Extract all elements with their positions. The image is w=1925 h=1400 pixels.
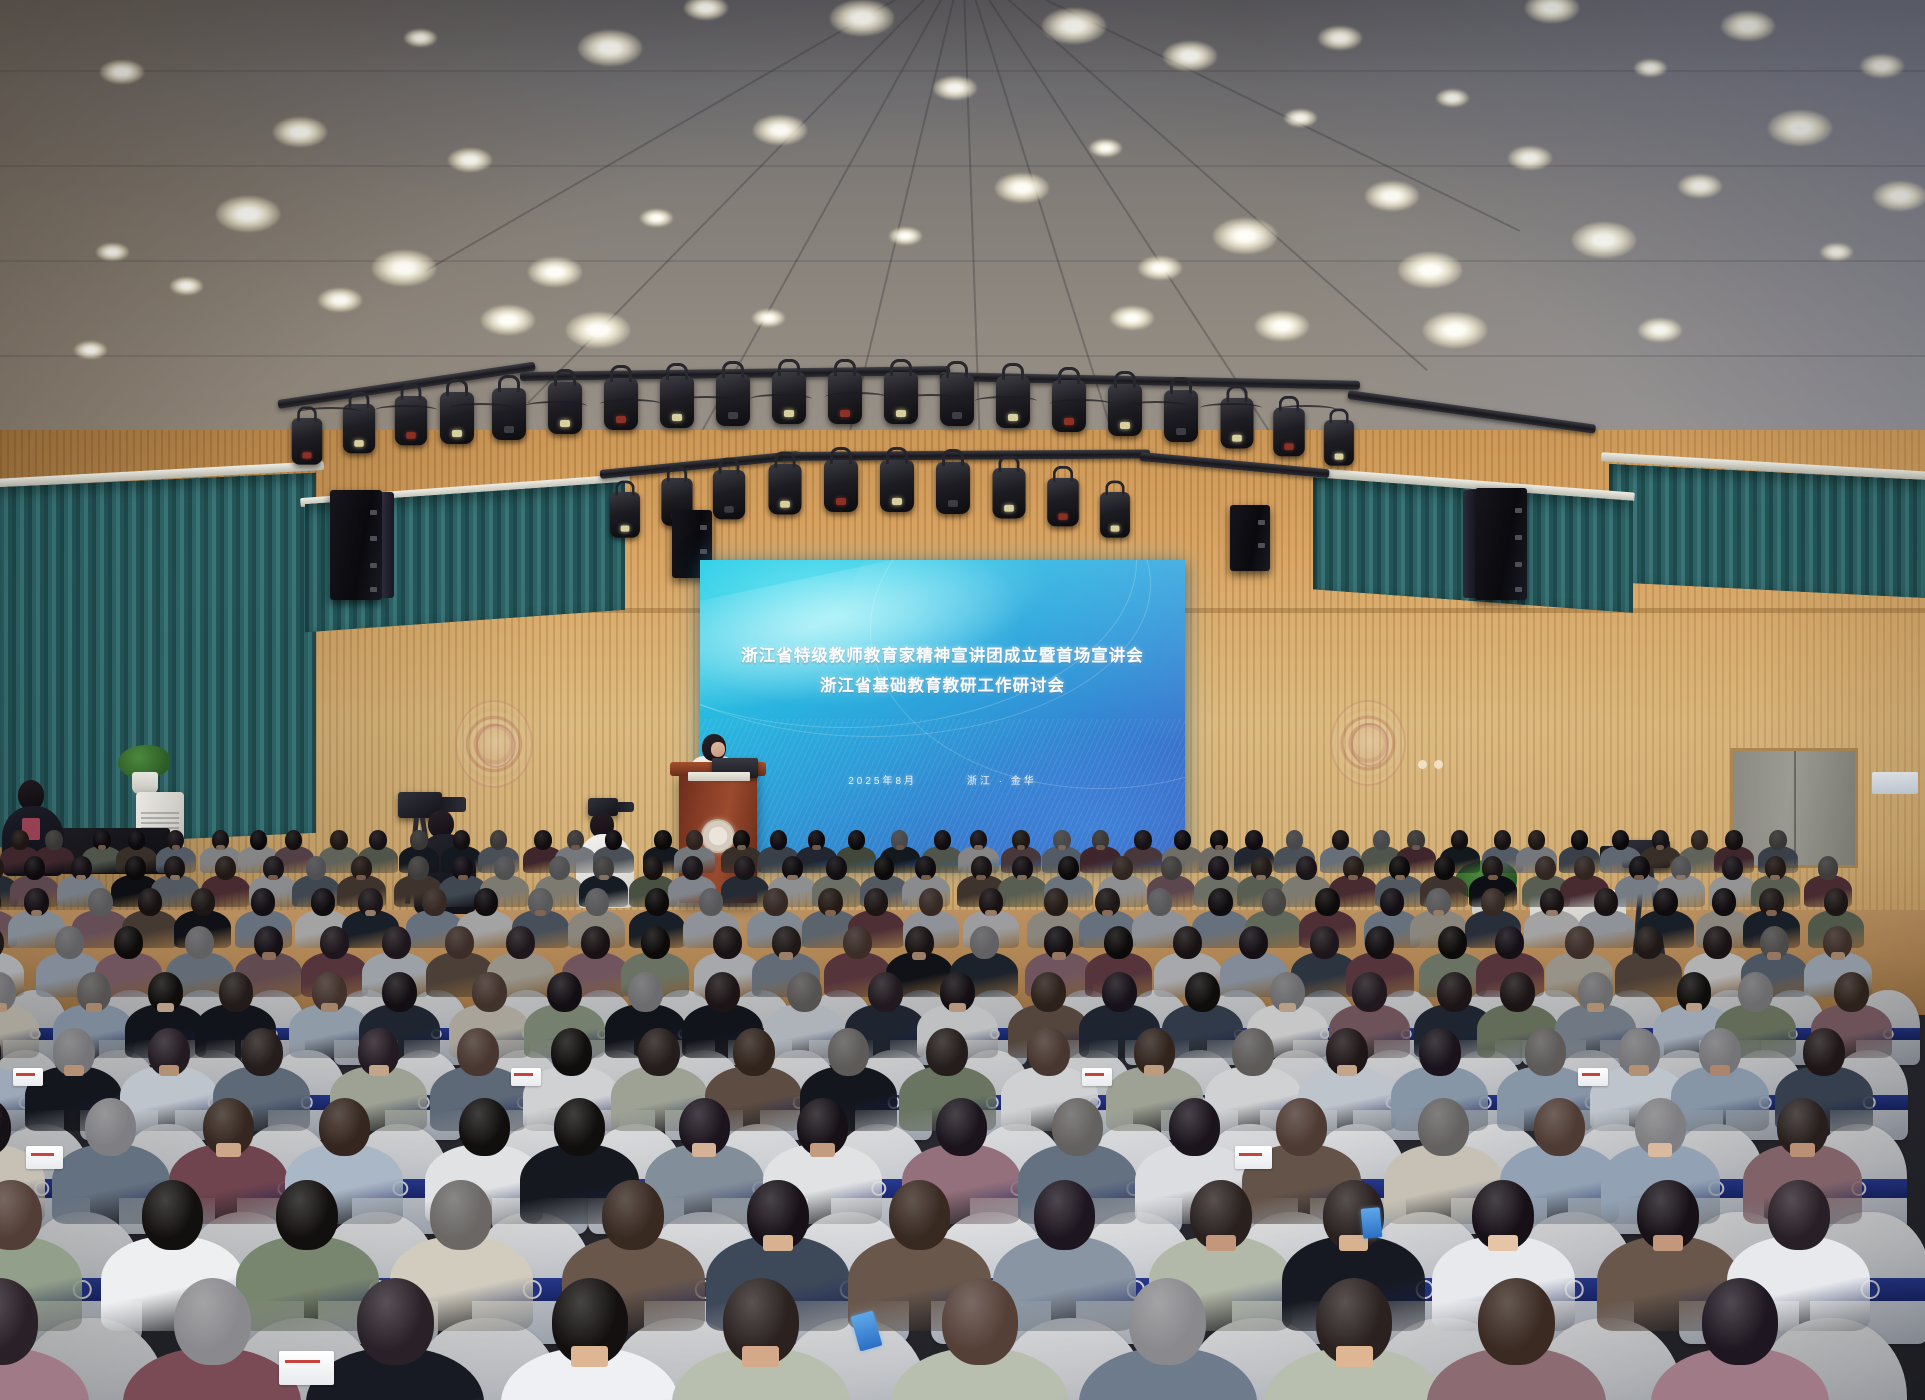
attendee-head — [1535, 856, 1556, 880]
attendee-head — [1296, 856, 1317, 880]
speaker-driver — [370, 587, 377, 592]
attendee-head — [1102, 972, 1137, 1012]
attendee-head — [1824, 888, 1848, 916]
attendee-head — [654, 830, 671, 850]
attendee-neck — [974, 845, 982, 850]
presenter-face — [711, 742, 725, 757]
attendee-head — [490, 830, 507, 850]
attendee-head — [733, 1028, 775, 1076]
attendee-neck — [812, 845, 820, 850]
ceiling-downlight — [578, 30, 642, 66]
light-power-cable — [1050, 399, 1112, 409]
attendee-head — [1419, 1028, 1461, 1076]
attendee-head — [382, 972, 417, 1012]
attendee-neck — [157, 1003, 174, 1013]
attendee-head — [215, 856, 236, 880]
screen-location: 浙江 · 金华 — [967, 776, 1037, 787]
attendee-head — [1286, 830, 1303, 850]
ceiling-downlight — [1678, 174, 1721, 198]
moving-head-light — [936, 462, 970, 514]
attendee-head — [643, 856, 664, 880]
ceiling-downlight — [1768, 110, 1832, 146]
attendee-head — [1634, 926, 1663, 959]
moving-head-light — [1100, 492, 1130, 538]
attendee-neck — [535, 910, 547, 917]
attendee-head — [1525, 1028, 1567, 1076]
attendee-head — [11, 830, 28, 850]
mobile-phone — [1361, 1207, 1383, 1239]
attendee-head — [128, 830, 145, 850]
light-lens — [836, 498, 846, 505]
light-lens — [560, 420, 570, 427]
attendee-head — [382, 926, 411, 959]
ceiling-downlight — [1638, 318, 1681, 342]
attendee-head — [1169, 1098, 1220, 1156]
attendee-neck — [1770, 875, 1780, 881]
attendee-head — [1574, 856, 1595, 880]
ceiling-downlight — [1213, 218, 1277, 254]
attendee-head — [682, 856, 703, 880]
ceiling-downlight — [1138, 256, 1181, 280]
moving-head-light — [1324, 420, 1354, 466]
attendee-neck — [692, 1143, 716, 1157]
attendee-neck — [1546, 910, 1558, 917]
ceiling-downlight — [1318, 26, 1361, 50]
attendee-head — [88, 888, 112, 916]
attendee-head — [1365, 926, 1394, 959]
attendee-neck — [321, 1003, 338, 1013]
ceiling-downlight — [1436, 89, 1469, 108]
attendee-neck — [216, 845, 224, 850]
light-power-cable — [1200, 403, 1262, 413]
attendee-head — [1451, 830, 1468, 850]
attendee-neck — [1395, 875, 1405, 881]
attendee-head — [826, 856, 847, 880]
speaker-driver — [1258, 543, 1265, 548]
institution-emblem-right — [1330, 700, 1406, 786]
attendee-neck — [787, 875, 797, 881]
attendee-head — [705, 972, 740, 1012]
attendee-head — [430, 1180, 491, 1250]
attendee-head — [1129, 1278, 1206, 1365]
attendee-head — [970, 926, 999, 959]
attendee-head — [1239, 926, 1268, 959]
attendee-head — [241, 1028, 283, 1076]
line-array-speaker-left — [330, 490, 382, 600]
attendee-head — [874, 856, 895, 880]
ceiling-downlight — [1255, 311, 1308, 341]
speaker-side-panel — [382, 492, 394, 598]
attendee-neck — [1488, 875, 1498, 881]
light-lens — [354, 440, 364, 447]
attendee-neck — [1790, 1143, 1814, 1157]
attendee-head — [549, 856, 570, 880]
ceiling-downlight — [318, 288, 361, 312]
attendee-head — [1495, 926, 1524, 959]
attendee-head — [1702, 1278, 1779, 1365]
attendee-head — [185, 926, 214, 959]
attendee-head — [919, 888, 943, 916]
light-lens — [1176, 428, 1186, 435]
attendee-head — [445, 926, 474, 959]
attendee-head — [311, 888, 335, 916]
light-lens — [840, 410, 850, 417]
light-lens — [616, 416, 626, 423]
wall-light-dot — [1418, 760, 1427, 769]
attendee-head — [934, 830, 951, 850]
attendee-head — [1494, 830, 1511, 850]
ceiling-seam — [0, 165, 1925, 167]
ceiling-downlight — [1163, 41, 1216, 71]
light-lens — [896, 410, 906, 417]
attendee-head — [547, 972, 582, 1012]
attendee-head — [641, 926, 670, 959]
institution-emblem-left — [455, 700, 533, 788]
attendee-neck — [170, 875, 180, 881]
screen-title-line2: 浙江省基础教育教研工作研讨会 — [700, 672, 1185, 696]
ceiling-downlight — [1721, 11, 1774, 41]
speaker-driver — [1515, 535, 1522, 540]
light-power-cable — [600, 399, 662, 409]
ceiling-downlight — [1634, 59, 1667, 78]
moving-head-light — [1164, 390, 1198, 442]
attendee-head — [306, 856, 327, 880]
moving-head-light — [440, 392, 474, 444]
attendee-head — [422, 888, 446, 916]
speaker-driver — [1515, 587, 1522, 592]
light-power-cable — [825, 392, 887, 402]
light-lens — [1120, 422, 1130, 429]
attendee-neck — [1206, 1235, 1236, 1252]
light-power-cable — [525, 401, 587, 411]
attendee-head — [1173, 926, 1202, 959]
attendee-neck — [1710, 1065, 1730, 1076]
ceiling-downlight — [216, 196, 280, 232]
attendee-head — [457, 1028, 499, 1076]
wall-light-dot — [1434, 760, 1443, 769]
door-sign — [1872, 772, 1918, 794]
attendee-head — [1104, 926, 1133, 959]
attendee-head — [581, 926, 610, 959]
attendee-head — [494, 856, 515, 880]
attendee-head — [1034, 1180, 1095, 1250]
attendee-head — [1044, 888, 1068, 916]
attendee-neck — [1412, 845, 1420, 850]
attendee-neck — [1629, 1065, 1649, 1076]
attendee-head — [1571, 830, 1588, 850]
attendee-head — [459, 1098, 510, 1156]
attendee-neck — [1766, 910, 1778, 917]
attendee-head — [319, 1098, 370, 1156]
attendee-head — [114, 926, 143, 959]
attendee-neck — [1144, 1065, 1164, 1076]
attendee-head — [250, 830, 267, 850]
ceiling-downlight — [1873, 181, 1925, 211]
moving-head-light — [713, 470, 745, 519]
attendee-neck — [1653, 1235, 1683, 1252]
attendee-head — [1818, 856, 1839, 880]
attendee-head — [763, 888, 787, 916]
attendee-head — [1310, 926, 1339, 959]
attendee-neck — [1017, 845, 1025, 850]
attendee-head — [219, 972, 254, 1012]
moving-head-light — [1273, 408, 1305, 456]
attendee-neck — [949, 1003, 966, 1013]
ceiling-downlight — [273, 117, 326, 147]
attendee-head — [138, 888, 162, 916]
attendee-neck — [1337, 1065, 1357, 1076]
attendee-head — [1725, 830, 1742, 850]
attendee-neck — [64, 1065, 84, 1076]
attendee-neck — [262, 952, 276, 960]
light-lens — [621, 525, 630, 531]
name-badge — [26, 1146, 63, 1169]
moving-head-light — [880, 460, 914, 512]
name-badge — [1235, 1146, 1272, 1169]
light-lens — [452, 430, 462, 437]
attendee-head — [926, 1028, 968, 1076]
attendee-head — [1653, 888, 1677, 916]
name-badge — [279, 1351, 334, 1385]
attendee-neck — [1676, 875, 1686, 881]
attendee-head — [1148, 888, 1172, 916]
attendee-head — [585, 888, 609, 916]
light-lens — [784, 410, 794, 417]
attendee-neck — [1433, 910, 1445, 917]
speaker-driver — [1515, 562, 1522, 567]
attendee-head — [942, 1278, 1019, 1365]
ceiling-downlight — [74, 341, 107, 360]
attendee-head — [276, 1180, 337, 1250]
attendee-head — [125, 856, 146, 880]
ceiling-downlight — [752, 309, 785, 328]
ceiling-downlight — [481, 305, 534, 335]
ceiling-downlight — [404, 29, 437, 48]
moving-head-light — [292, 418, 323, 465]
attendee-head — [551, 1028, 593, 1076]
attendee-neck — [571, 845, 579, 850]
light-lens — [728, 412, 738, 419]
attendee-head — [686, 830, 703, 850]
light-lens — [948, 500, 958, 507]
attendee-head — [174, 1278, 251, 1365]
attendee-head — [1208, 888, 1232, 916]
speaker-driver — [1258, 520, 1265, 525]
attendee-head — [408, 856, 429, 880]
attendee-neck — [779, 952, 793, 960]
attendee-head — [472, 972, 507, 1012]
attendee-head — [1352, 972, 1387, 1012]
moving-head-light — [824, 460, 858, 512]
attendee-neck — [1215, 845, 1223, 850]
attendee-neck — [1767, 952, 1781, 960]
attendee-neck — [172, 845, 180, 850]
attendee-head — [1418, 1098, 1469, 1156]
attendee-head — [534, 830, 551, 850]
ceiling-downlight — [372, 250, 436, 286]
attendee-head — [191, 888, 215, 916]
light-lens — [1284, 443, 1293, 450]
attendee-head — [1769, 830, 1786, 850]
video-camera-lens — [616, 802, 634, 812]
ceiling-downlight — [1860, 54, 1903, 78]
attendee-neck — [76, 875, 86, 881]
attendee-head — [1332, 830, 1349, 850]
name-badge — [1578, 1068, 1608, 1087]
attendee-neck — [825, 910, 837, 917]
attendee-neck — [896, 845, 904, 850]
attendee-neck — [365, 910, 377, 917]
attendee-head — [1058, 856, 1079, 880]
attendee-head — [1703, 926, 1732, 959]
led-presentation-screen[interactable]: 浙江省特级教师教育家精神宣讲团成立暨首场宣讲会 浙江省基础教育教研工作研讨会 2… — [700, 560, 1185, 865]
light-lens — [1008, 414, 1018, 421]
speaker-driver — [1515, 508, 1522, 513]
attendee-head — [848, 830, 865, 850]
attendee-head — [936, 1098, 987, 1156]
attendee-head — [1052, 1098, 1103, 1156]
attendee-head — [554, 1098, 605, 1156]
light-power-cable — [1125, 401, 1187, 411]
attendee-head — [330, 830, 347, 850]
attendee-head — [1481, 888, 1505, 916]
attendee-neck — [1336, 1346, 1373, 1367]
attendee-head — [1112, 856, 1133, 880]
attendee-head — [1161, 856, 1182, 880]
attendee-neck — [0, 1003, 7, 1013]
ceiling-downlight — [1110, 306, 1153, 330]
attendee-neck — [921, 875, 931, 881]
podium-papers — [688, 772, 750, 781]
attendee-head — [1565, 926, 1594, 959]
attendee-head — [868, 972, 903, 1012]
ceiling-downlight — [830, 0, 894, 36]
attendee-head — [1594, 888, 1618, 916]
moving-head-light — [395, 396, 427, 445]
moving-head-light — [492, 388, 526, 440]
ceiling-downlight — [995, 173, 1048, 203]
attendee-neck — [1279, 1003, 1296, 1013]
ceiling-downlight — [100, 60, 143, 84]
attendee-head — [1691, 830, 1708, 850]
attendee-neck — [268, 875, 278, 881]
screen-date: 2025年8月 — [848, 776, 917, 787]
attendee-neck — [1017, 875, 1027, 881]
attendee-head — [889, 1180, 950, 1250]
ceiling-downlight — [566, 312, 630, 348]
moving-head-light — [1047, 478, 1079, 526]
attendee-head — [1738, 972, 1773, 1012]
attendee-head — [24, 856, 45, 880]
attendee-neck — [86, 1003, 103, 1013]
attendee-head — [357, 1278, 434, 1365]
attendee-shoulders — [721, 875, 770, 907]
attendee-head — [142, 1180, 203, 1250]
ceiling-downlight — [640, 209, 673, 228]
attendee-head — [628, 972, 663, 1012]
attendee-head — [1768, 1180, 1829, 1250]
attendee-head — [1262, 888, 1286, 916]
attendee-shoulders — [1615, 952, 1683, 997]
attendee-head — [843, 926, 872, 959]
ceiling-downlight — [1398, 252, 1462, 288]
light-lens — [1232, 435, 1242, 442]
attendee-head — [1834, 972, 1869, 1012]
attendee-head — [1276, 1098, 1327, 1156]
attendee-head — [1528, 830, 1545, 850]
screen-meta-row: 2025年8月 浙江 · 金华 — [700, 772, 1185, 787]
attendee-neck — [1096, 845, 1104, 850]
attendee-head — [45, 830, 62, 850]
attendee-head — [1028, 1028, 1070, 1076]
attendee-head — [605, 830, 622, 850]
attendee-neck — [159, 1065, 179, 1076]
speaker-driver — [370, 536, 377, 541]
line-array-speaker-center-right — [1230, 505, 1270, 571]
attendee-neck — [985, 910, 997, 917]
attendee-head — [1534, 1098, 1585, 1156]
attendee-head — [453, 830, 470, 850]
attendee-head — [699, 888, 723, 916]
attendee-head — [55, 926, 84, 959]
attendee-neck — [1256, 875, 1266, 881]
potted-plant-pot-left — [132, 772, 158, 794]
attendee-head — [1712, 888, 1736, 916]
attendee-head — [506, 926, 535, 959]
attendee-head — [1803, 1028, 1845, 1076]
attendee-head — [369, 830, 386, 850]
attendee-head — [1174, 830, 1191, 850]
attendee-head — [1434, 856, 1455, 880]
attendee-head — [1438, 926, 1467, 959]
ceiling-seam — [0, 355, 1925, 357]
ceiling-downlight — [170, 277, 203, 296]
attendee-neck — [31, 910, 43, 917]
auditorium-photo: 浙江省特级教师教育家精神宣讲团成立暨首场宣讲会 浙江省基础教育教研工作研讨会 2… — [0, 0, 1925, 1400]
speaker-driver — [370, 563, 377, 568]
attendee-head — [474, 888, 498, 916]
light-lens — [1335, 453, 1344, 459]
attendee-neck — [912, 952, 926, 960]
attendee-neck — [1831, 952, 1845, 960]
attendee-head — [602, 1180, 663, 1250]
name-badge — [1082, 1068, 1112, 1087]
attendee-neck — [1102, 910, 1114, 917]
attendee-head — [713, 926, 742, 959]
speaker-side-panel — [1463, 490, 1475, 598]
ceiling-downlight — [528, 257, 581, 287]
attendee-neck — [369, 1065, 389, 1076]
ceiling-downlight — [1089, 139, 1122, 158]
attendee-neck — [98, 845, 106, 850]
attendee-head — [1185, 972, 1220, 1012]
ceiling-downlight — [1423, 312, 1487, 348]
speaker-driver — [700, 549, 707, 554]
attendee-head — [1245, 830, 1262, 850]
attendee-neck — [810, 1143, 834, 1157]
ceiling-seam — [0, 260, 1925, 262]
attendee-head — [734, 856, 755, 880]
ceiling-downlight — [1508, 146, 1551, 170]
light-lens — [1064, 418, 1074, 425]
attendee-head — [1380, 888, 1404, 916]
attendee-head — [638, 1028, 680, 1076]
attendee-head — [1500, 972, 1535, 1012]
attendee-neck — [763, 1235, 793, 1252]
attendee-head — [1208, 856, 1229, 880]
screen-title-line1: 浙江省特级教师教育家精神宣讲团成立暨首场宣讲会 — [700, 642, 1185, 666]
attendee-head — [251, 888, 275, 916]
